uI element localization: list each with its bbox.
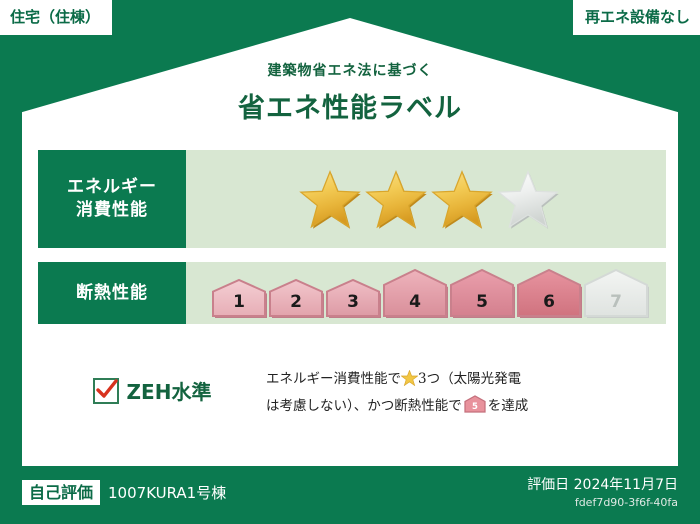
- evaluation-date: 評価日 2024年11月7日: [527, 476, 678, 494]
- insulation-level-number: 3: [325, 292, 381, 312]
- star-filled-icon: [365, 169, 427, 229]
- insulation-level-badge: 5: [449, 268, 515, 318]
- desc-part3: は考慮しない）、かつ断熱性能で: [266, 398, 462, 414]
- building-name: 1007KURA1号棟: [108, 482, 226, 503]
- zeh-note: ZEH水準 エネルギー消費性能で3つ（太陽光発電は考慮しない）、かつ断熱性能で5…: [38, 368, 666, 421]
- footer-right-group: 評価日 2024年11月7日 fdef7d90-3f6f-40fa: [527, 476, 678, 509]
- insulation-performance-row: 断熱性能 1234567: [38, 262, 666, 324]
- self-evaluation-badge: 自己評価: [22, 480, 100, 505]
- insulation-level-badge: 1: [211, 278, 267, 318]
- title-block: 建築物省エネ法に基づく 省エネ性能ラベル: [0, 60, 700, 125]
- insulation-performance-label: 断熱性能: [38, 262, 186, 324]
- energy-performance-label: エネルギー 消費性能: [38, 150, 186, 248]
- label-id: fdef7d90-3f6f-40fa: [527, 496, 678, 509]
- insulation-level-badge: 6: [516, 268, 582, 318]
- check-icon: [94, 377, 120, 403]
- insulation-level-number: 5: [449, 292, 515, 312]
- insulation-level-badge: 7: [583, 268, 649, 318]
- insulation-level-badge: 3: [325, 278, 381, 318]
- star-filled-icon: [299, 169, 361, 229]
- insulation-level-badge: 4: [382, 268, 448, 318]
- zeh-label: ZEH水準: [127, 376, 212, 405]
- footer-left-group: 自己評価 1007KURA1号棟: [22, 480, 226, 505]
- insulation-level-scale: 1234567: [211, 268, 649, 318]
- renewable-energy-tag: 再エネ設備なし: [573, 0, 700, 35]
- energy-performance-body: [186, 150, 666, 248]
- insulation-level-number: 7: [583, 292, 649, 312]
- inline-level-badge: 5: [464, 395, 486, 422]
- insulation-level-number: 4: [382, 292, 448, 312]
- energy-label-line1: エネルギー: [67, 176, 157, 199]
- star-empty-icon: [497, 169, 559, 229]
- insulation-performance-body: 1234567: [186, 262, 666, 324]
- zeh-checkbox: [93, 378, 119, 404]
- star-rating: [299, 169, 559, 229]
- zeh-standard-block: ZEH水準: [38, 368, 266, 405]
- energy-performance-label: ハウスドゥ 住宅（住棟） 再エネ設備なし 建築物省エネ法に基づく 省エネ性能ラベ…: [0, 0, 700, 524]
- insulation-label-text: 断熱性能: [76, 282, 148, 305]
- achievement-description: エネルギー消費性能で3つ（太陽光発電は考慮しない）、かつ断熱性能で5を達成: [266, 368, 666, 421]
- energy-performance-row: エネルギー 消費性能: [38, 150, 666, 248]
- insulation-level-number: 1: [211, 292, 267, 312]
- insulation-level-number: 6: [516, 292, 582, 312]
- energy-label-line2: 消費性能: [76, 199, 148, 222]
- title-subtitle: 建築物省エネ法に基づく: [0, 60, 700, 80]
- label-footer: 自己評価 1007KURA1号棟 評価日 2024年11月7日 fdef7d90…: [0, 466, 700, 524]
- page-title: 省エネ性能ラベル: [0, 86, 700, 125]
- desc-part1: エネルギー消費性能で: [266, 371, 401, 387]
- insulation-level-number: 2: [268, 292, 324, 312]
- insulation-level-badge: 2: [268, 278, 324, 318]
- star-filled-icon: [431, 169, 493, 229]
- desc-part4: を達成: [488, 398, 529, 414]
- building-type-tag: 住宅（住棟）: [0, 0, 112, 35]
- svg-text:5: 5: [472, 402, 478, 412]
- desc-part2: 3つ（太陽光発電: [418, 371, 521, 387]
- inline-star-icon: [401, 370, 418, 395]
